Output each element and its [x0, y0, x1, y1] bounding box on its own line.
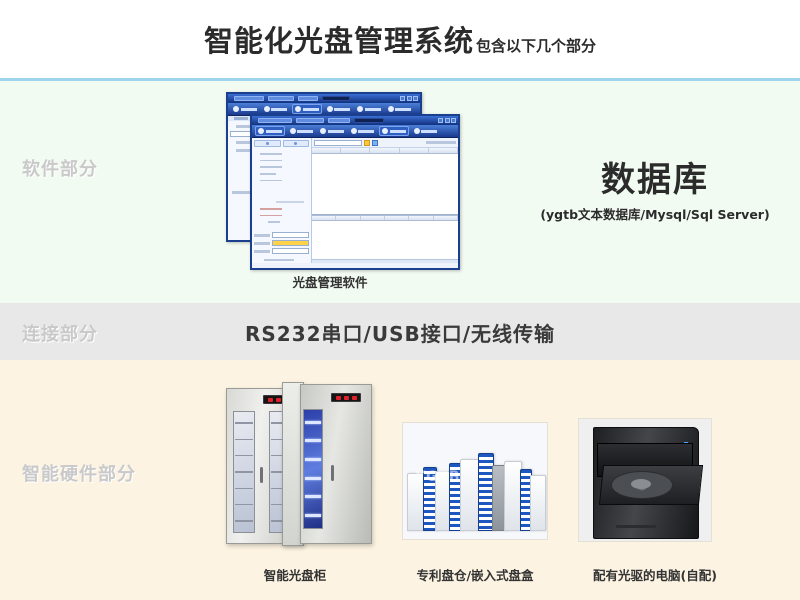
database-title: 数据库 [520, 158, 790, 202]
titlebar-field-2 [298, 96, 318, 101]
search-status-text [426, 141, 456, 144]
side-text-input-1[interactable] [272, 232, 309, 238]
cabinet-right [300, 384, 372, 544]
window-toolbar-front[interactable] [252, 125, 458, 138]
column-header[interactable] [400, 148, 429, 153]
titlebar-field-6 [354, 118, 384, 123]
filter-icon[interactable] [372, 140, 378, 146]
toolbar-button-4[interactable] [325, 105, 353, 113]
toolbar-report-button[interactable] [379, 126, 409, 136]
maximize-icon[interactable] [445, 118, 450, 123]
caption-pc: 配有光驱的电脑(自配) [575, 565, 735, 584]
column-header[interactable] [370, 148, 399, 153]
toolbar-settings-button[interactable] [349, 127, 377, 135]
search-input[interactable] [314, 140, 362, 146]
titlebar-field-4 [296, 118, 324, 123]
titlebar-title-back [234, 96, 264, 101]
cabinet-illuminated-interior [303, 409, 323, 529]
tab-icon [294, 142, 297, 145]
window-controls-front[interactable] [438, 118, 456, 123]
data-grid-bottom[interactable] [312, 221, 458, 259]
status-bar [312, 259, 458, 263]
side-tabs[interactable] [254, 140, 309, 147]
column-header[interactable] [312, 148, 341, 153]
caption-software: 光盘管理软件 [240, 272, 420, 291]
close-icon[interactable] [451, 118, 456, 123]
disc-in-icon [233, 106, 239, 112]
disc-hub [631, 479, 651, 489]
window-titlebar-front [252, 116, 458, 125]
magazine-white-3 [460, 459, 480, 531]
maximize-icon[interactable] [407, 96, 412, 101]
side-tab-1[interactable] [254, 140, 281, 147]
side-tab-2[interactable] [283, 140, 310, 147]
toolbar-button-2[interactable] [262, 105, 290, 113]
column-header[interactable] [385, 216, 409, 220]
side-text-input-2[interactable] [272, 248, 309, 254]
column-header[interactable] [336, 216, 360, 220]
titlebar-field-1 [268, 96, 294, 101]
menu-item-1[interactable] [234, 117, 248, 120]
titlebar-title-front [258, 118, 292, 123]
page-title-suffix: 包含以下几个部分 [476, 35, 596, 56]
titlebar-field-5 [328, 118, 350, 123]
app-window-front[interactable] [250, 114, 460, 270]
column-header[interactable] [409, 216, 433, 220]
database-block: 数据库 (ygtb文本数据库/Mysql/Sql Server) [520, 158, 790, 223]
disc-in-icon [258, 128, 264, 134]
toolbar-button-1[interactable] [231, 105, 259, 113]
search-bar[interactable] [312, 138, 458, 148]
side-text-input-highlighted[interactable] [272, 240, 309, 246]
disc-out-icon [290, 128, 296, 134]
settings-gear-icon [327, 106, 333, 112]
database-subtitle: (ygtb文本数据库/Mysql/Sql Server) [520, 204, 790, 223]
column-header[interactable] [341, 148, 370, 153]
toolbar-disc-query-button[interactable] [318, 127, 346, 135]
toolbar-exit-button[interactable] [412, 127, 440, 135]
toolbar-button-6[interactable] [386, 105, 414, 113]
content-panel-front [312, 138, 458, 263]
disc-out-icon [264, 106, 270, 112]
toolbar-disc-in-button[interactable] [255, 126, 285, 136]
smart-disc-cabinet-photo [218, 378, 383, 550]
page-title: 智能化光盘管理系统 包含以下几个部分 [204, 18, 596, 60]
window-titlebar-back [228, 94, 420, 103]
minimize-icon[interactable] [400, 96, 405, 101]
cabinet-handle-right [331, 465, 334, 481]
toolbar-button-5[interactable] [355, 105, 383, 113]
caption-magazine: 专利盘仓/嵌入式盘盒 [390, 565, 560, 584]
column-header[interactable] [361, 216, 385, 220]
page-title-main: 智能化光盘管理系统 [204, 18, 474, 60]
data-grid-top[interactable] [312, 154, 458, 214]
band-label-connection: 连接部分 [22, 320, 98, 346]
column-header[interactable] [312, 216, 336, 220]
report-icon [357, 106, 363, 112]
window-body-front [252, 138, 458, 263]
toolbar-button-3[interactable] [292, 104, 322, 114]
exit-icon [414, 128, 420, 134]
search-icon[interactable] [364, 140, 370, 146]
column-header[interactable] [434, 216, 458, 220]
computer-with-optical-drive-photo [578, 418, 712, 542]
close-icon[interactable] [413, 96, 418, 101]
window-controls-back[interactable] [400, 96, 418, 101]
tab-icon [266, 142, 269, 145]
disc-magazine-photo: YGTB [402, 422, 548, 540]
report-icon [382, 128, 388, 134]
page-header: 智能化光盘管理系统 包含以下几个部分 [0, 0, 800, 78]
diagram-page: 智能化光盘管理系统 包含以下几个部分 软件部分 连接部分 智能硬件部分 [0, 0, 800, 600]
cabinet-handle-left [260, 467, 263, 483]
cabinet-led-display-right [331, 393, 361, 402]
column-header[interactable] [429, 148, 458, 153]
disc-query-icon [295, 106, 301, 112]
disc-query-icon [320, 128, 326, 134]
titlebar-field-3 [322, 96, 350, 101]
disc-management-software-screenshot [226, 92, 460, 270]
minimize-icon[interactable] [438, 118, 443, 123]
side-link[interactable] [264, 259, 294, 261]
exit-icon [388, 106, 394, 112]
side-panel-front [252, 138, 312, 263]
pc-front-port-slot [616, 525, 656, 528]
cabinet-glass-door-1 [233, 411, 255, 533]
connection-text: RS232串口/USB接口/无线传输 [200, 318, 600, 347]
band-label-software: 软件部分 [22, 155, 98, 181]
magazine-white-5 [530, 475, 546, 531]
toolbar-disc-out-button[interactable] [288, 127, 316, 135]
band-label-hardware: 智能硬件部分 [22, 460, 136, 486]
caption-cabinet: 智能光盘柜 [215, 565, 375, 584]
settings-gear-icon [351, 128, 357, 134]
